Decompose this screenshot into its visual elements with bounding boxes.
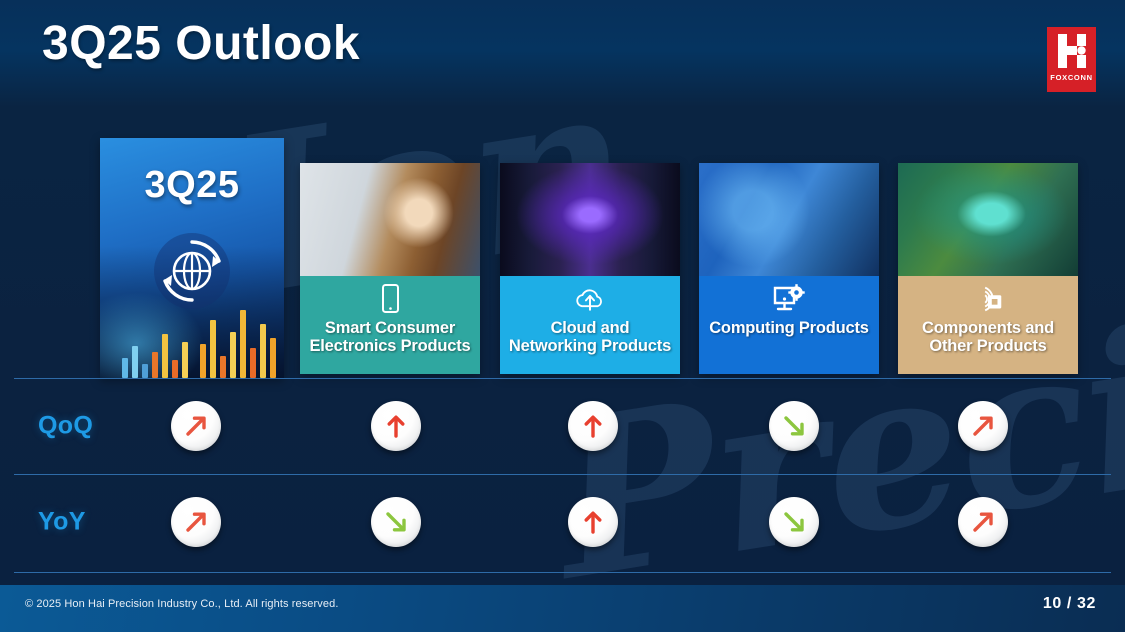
globe-refresh-icon: [151, 230, 233, 312]
tile-smart-consumer-electronics[interactable]: Smart Consumer Electronics Products: [300, 163, 480, 374]
trend-row-yoy: YoY: [0, 474, 1125, 570]
trend-indicator-qoq-3[interactable]: [568, 401, 618, 451]
cloud-upload-icon: [572, 281, 608, 317]
tile-caption: Smart Consumer Electronics Products: [309, 319, 470, 356]
slide-root: Hon Precision 3Q25 Outlook FOXCONN: [0, 0, 1125, 632]
trend-indicator-qoq-5[interactable]: [958, 401, 1008, 451]
tile-caption: Cloud and Networking Products: [509, 319, 671, 356]
trend-indicator-qoq-2[interactable]: [371, 401, 421, 451]
monitor-gear-icon: [771, 281, 807, 317]
arrow-up-icon: [579, 412, 607, 440]
page-title: 3Q25 Outlook: [42, 16, 360, 71]
arrow-up-right-icon: [969, 412, 997, 440]
slide-header: 3Q25 Outlook FOXCONN: [0, 0, 1125, 110]
arrow-down-right-icon: [780, 412, 808, 440]
photo-data-center-aisle: [500, 163, 680, 276]
divider-bottom: [14, 572, 1111, 573]
tile-components-other[interactable]: Components and Other Products: [898, 163, 1078, 374]
tablet-icon: [372, 281, 408, 317]
trend-indicator-qoq-1[interactable]: [171, 401, 221, 451]
foxconn-logo: FOXCONN: [1047, 27, 1096, 92]
trend-indicator-yoy-1[interactable]: [171, 497, 221, 547]
caption-band: Smart Consumer Electronics Products: [300, 276, 480, 374]
photo-circuit-board-chip: [898, 163, 1078, 276]
slide-footer: © 2025 Hon Hai Precision Industry Co., L…: [0, 585, 1125, 632]
trend-indicator-yoy-5[interactable]: [958, 497, 1008, 547]
trend-row-label-yoy: YoY: [38, 508, 86, 537]
caption-band: Components and Other Products: [898, 276, 1078, 374]
hero-quarter-label: 3Q25: [100, 164, 284, 207]
tile-caption: Computing Products: [709, 319, 869, 337]
photo-retail-store-customers: [300, 163, 480, 276]
foxconn-wordmark: FOXCONN: [1050, 73, 1092, 82]
caption-band: Computing Products: [699, 276, 879, 374]
tile-caption: Components and Other Products: [922, 319, 1054, 356]
trend-indicator-yoy-3[interactable]: [568, 497, 618, 547]
trend-row-qoq: QoQ: [0, 378, 1125, 474]
chip-wireless-icon: [970, 281, 1006, 317]
photo-laptop-touch-interface: [699, 163, 879, 276]
tile-computing[interactable]: Computing Products: [699, 163, 879, 374]
arrow-down-right-icon: [780, 508, 808, 536]
arrow-up-right-icon: [969, 508, 997, 536]
arrow-up-right-icon: [182, 412, 210, 440]
trend-indicator-yoy-2[interactable]: [371, 497, 421, 547]
arrow-up-icon: [382, 412, 410, 440]
arrow-up-icon: [579, 508, 607, 536]
arrow-up-right-icon: [182, 508, 210, 536]
page-number: 10 / 32: [1043, 595, 1096, 613]
trend-row-label-qoq: QoQ: [38, 412, 93, 441]
arrow-down-right-icon: [382, 508, 410, 536]
tile-hero-quarter[interactable]: 3Q25: [100, 138, 284, 378]
foxconn-h-mark: [1056, 33, 1088, 69]
trend-indicator-yoy-4[interactable]: [769, 497, 819, 547]
copyright-text: © 2025 Hon Hai Precision Industry Co., L…: [25, 598, 338, 610]
tile-cloud-networking[interactable]: Cloud and Networking Products: [500, 163, 680, 374]
trend-indicator-qoq-4[interactable]: [769, 401, 819, 451]
caption-band: Cloud and Networking Products: [500, 276, 680, 374]
